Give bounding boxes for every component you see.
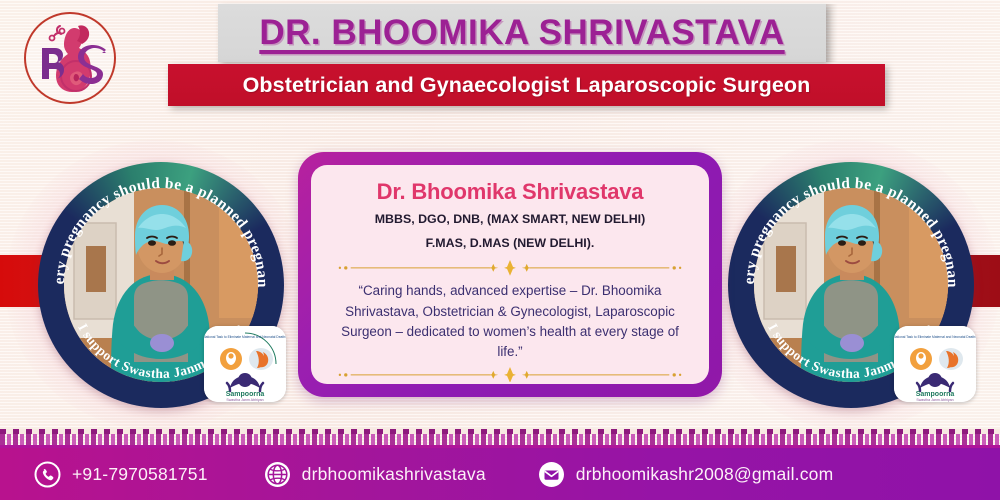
doctor-name: Dr. Bhoomika Shrivastava	[377, 179, 644, 205]
globe-icon	[264, 461, 291, 488]
phone-number: +91-7970581751	[72, 464, 208, 485]
doctor-quote: “Caring hands, advanced expertise – Dr. …	[333, 279, 687, 363]
sampoorna-sticker-left: National Task to Eliminate Maternal and …	[204, 326, 286, 402]
svg-text:Sampoorna: Sampoorna	[916, 391, 955, 398]
contact-website[interactable]: drbhoomikashrivastava	[264, 461, 486, 488]
logo-monogram-icon	[18, 6, 122, 110]
contact-email[interactable]: drbhoomikashr2008@gmail.com	[538, 461, 834, 488]
subtitle-text: Obstetrician and Gynaecologist Laparosco…	[243, 73, 811, 98]
promotional-banner: DR. BHOOMIKA SHRIVASTAVA Obstetrician an…	[0, 0, 1000, 500]
sparkle-icon	[504, 260, 516, 276]
email-address: drbhoomikashr2008@gmail.com	[576, 464, 834, 485]
doctor-info-card: Dr. Bhoomika Shrivastava MBBS, DGO, DNB,…	[298, 152, 722, 397]
title-plate-shadow	[826, 4, 838, 62]
badge-top-text: Every pregnancy should be a planned preg…	[38, 162, 271, 288]
doctor-info-card-inner: Dr. Bhoomika Shrivastava MBBS, DGO, DNB,…	[311, 165, 709, 384]
subtitle-bar: Obstetrician and Gynaecologist Laparosco…	[168, 64, 885, 106]
contact-bar: +91-7970581751 drbhoomikashrivastava	[0, 448, 1000, 500]
envelope-icon	[538, 461, 565, 488]
title-plate: DR. BHOOMIKA SHRIVASTAVA	[218, 4, 826, 62]
svg-text:National Task to Eliminate Mat: National Task to Eliminate Maternal and …	[894, 335, 976, 339]
phone-icon	[34, 461, 61, 488]
svg-text:Sampoorna: Sampoorna	[226, 391, 265, 398]
ornamental-divider-top	[333, 260, 687, 276]
badge-top-text: Every pregnancy should be a planned preg…	[728, 162, 961, 288]
page-title: DR. BHOOMIKA SHRIVASTAVA	[259, 13, 784, 53]
svg-text:Swastha Janm Abhiyan: Swastha Janm Abhiyan	[916, 398, 953, 402]
contact-phone[interactable]: +91-7970581751	[34, 461, 208, 488]
doctor-qualification-line-2: F.MAS, D.MAS (NEW DELHI).	[426, 234, 595, 253]
doctor-qualification-line-1: MBBS, DGO, DNB, (MAX SMART, NEW DELHI)	[375, 210, 646, 229]
circular-photo-badge-left: Every pregnancy should be a planned preg…	[38, 162, 284, 408]
circular-photo-badge-right: Every pregnancy should be a planned preg…	[728, 162, 974, 408]
clinic-logo	[18, 6, 122, 110]
website-handle: drbhoomikashrivastava	[302, 464, 486, 485]
ornamental-divider-bottom	[333, 367, 687, 383]
svg-text:Swastha Janm Abhiyan: Swastha Janm Abhiyan	[226, 398, 263, 402]
svg-text:National Task to Eliminate Mat: National Task to Eliminate Maternal and …	[204, 335, 286, 339]
sparkle-icon	[504, 367, 516, 383]
sampoorna-sticker-right: National Task to Eliminate Maternal and …	[894, 326, 976, 402]
